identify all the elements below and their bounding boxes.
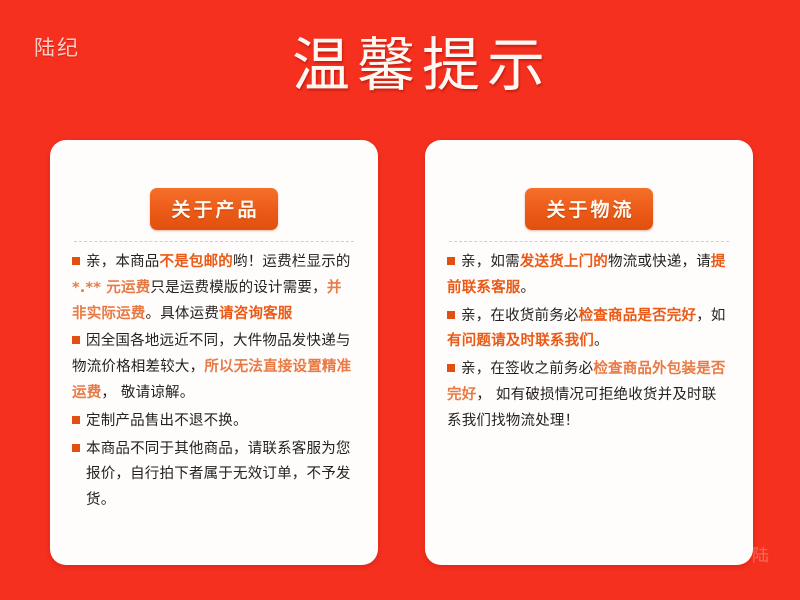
text-run-highlight: 有问题请及时联系我们 <box>447 333 594 349</box>
badge-about-product: 关于产品 <box>150 188 277 230</box>
text-run: 。 <box>594 333 609 349</box>
bullet-square-icon <box>72 416 80 424</box>
card-body-about-logistics: 亲，如需发送货上门的物流或快递，请提前联系客服。亲，在收货前务必检查商品是否完好… <box>447 248 731 435</box>
text-run: 。 <box>521 280 536 296</box>
page-title: 温馨提示 <box>0 34 800 97</box>
text-run-highlight: 元运费 <box>101 280 150 296</box>
list-item: 本商品不同于其他商品，请联系客服为您报价，自行拍下者属于无效订单，不予发货。 <box>72 437 356 514</box>
text-run: 定制产品售出不退不换。 <box>86 413 248 429</box>
text-run: 物流或快递，请 <box>608 254 711 270</box>
text-run: 亲，本商品 <box>86 254 160 270</box>
header-divider <box>449 241 729 242</box>
bullet-square-icon <box>72 336 80 344</box>
badge-about-logistics: 关于物流 <box>525 188 652 230</box>
text-run-highlight: *.** <box>72 280 101 296</box>
watermark: 陆 <box>752 541 770 566</box>
card-about-product: 关于产品 亲，本商品不是包邮的哟！运费栏显示的 *.** 元运费只是运费模版的设… <box>50 140 378 565</box>
list-item: 亲，在签收之前务必检查商品外包装是否完好， 如有破损情况可拒绝收货并及时联系我们… <box>447 357 731 434</box>
text-run: 亲，在收货前务必 <box>461 308 579 324</box>
card-header: 关于产品 <box>72 140 356 230</box>
bullet-square-icon <box>447 311 455 319</box>
promo-banner: 陆纪 温馨提示 关于产品 亲，本商品不是包邮的哟！运费栏显示的 *.** 元运费… <box>0 0 800 600</box>
text-run: 亲，在签收之前务必 <box>461 361 593 377</box>
list-item: 因全国各地远近不同，大件物品发快递与物流价格相差较大，所以无法直接设置精准运费，… <box>72 329 356 406</box>
text-run-highlight: 请咨询客服 <box>219 306 293 322</box>
header-divider <box>74 241 354 242</box>
card-header: 关于物流 <box>447 140 731 230</box>
card-body-about-product: 亲，本商品不是包邮的哟！运费栏显示的 *.** 元运费只是运费模版的设计需要，并… <box>72 248 356 514</box>
text-run: ， 敬请谅解。 <box>101 385 194 401</box>
text-run: ， 如有破损情况可拒绝收货并及时联系我们找物流处理！ <box>447 387 716 429</box>
text-run: 哟！运费栏显示的 <box>233 254 351 270</box>
list-item: 定制产品售出不退不换。 <box>72 409 356 435</box>
text-run: 。具体运费 <box>146 306 220 322</box>
text-run-highlight: 发送货上门的 <box>520 254 608 270</box>
text-run: 只是运费模版的设计需要， <box>150 280 326 296</box>
card-about-logistics: 关于物流 亲，如需发送货上门的物流或快递，请提前联系客服。亲，在收货前务必检查商… <box>425 140 753 565</box>
text-run: 本商品不同于其他商品，请联系客服为您报价，自行拍下者属于无效订单，不予发货。 <box>86 441 351 509</box>
bullet-square-icon <box>72 444 80 452</box>
bullet-square-icon <box>447 257 455 265</box>
text-run: ，如 <box>696 308 725 324</box>
text-run-highlight: 检查商品是否完好 <box>579 308 697 324</box>
bullet-square-icon <box>72 257 80 265</box>
bullet-square-icon <box>447 364 455 372</box>
list-item: 亲，如需发送货上门的物流或快递，请提前联系客服。 <box>447 250 731 302</box>
list-item: 亲，本商品不是包邮的哟！运费栏显示的 *.** 元运费只是运费模版的设计需要，并… <box>72 250 356 327</box>
text-run: 亲，如需 <box>461 254 520 270</box>
list-item: 亲，在收货前务必检查商品是否完好，如有问题请及时联系我们。 <box>447 304 731 356</box>
text-run-highlight: 不是包邮的 <box>160 254 234 270</box>
